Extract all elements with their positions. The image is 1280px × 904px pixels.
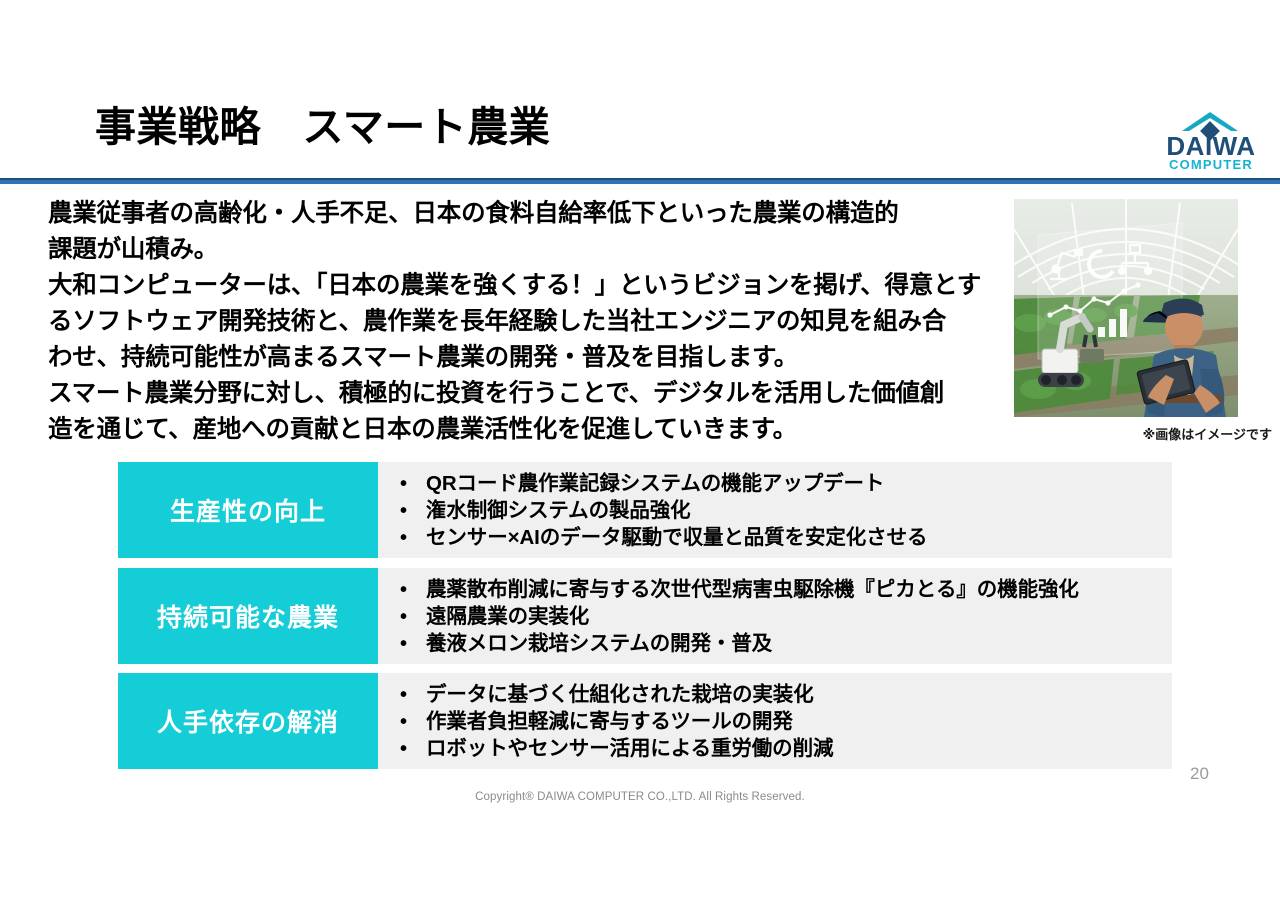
list-item: • センサー×AIのデータ駆動で収量と品質を安定化させる: [400, 524, 1160, 551]
list-item: • 農薬散布削減に寄与する次世代型病害虫駆除機『ピカとる』の機能強化: [400, 576, 1160, 603]
strategy-row-label: 人手依存の解消: [118, 673, 378, 769]
body-paragraph: 農業従事者の高齢化・人手不足、日本の食料自給率低下といった農業の構造的 課題が山…: [48, 196, 1003, 448]
strategy-row-bullets: • 農薬散布削減に寄与する次世代型病害虫駆除機『ピカとる』の機能強化 • 遠隔農…: [400, 576, 1160, 657]
bullet-text: 遠隔農業の実装化: [426, 603, 589, 630]
list-item: • QRコード農作業記録システムの機能アップデート: [400, 470, 1160, 497]
strategy-row: 人手依存の解消 • データに基づく仕組化された栽培の実装化 • 作業者負担軽減に…: [118, 673, 1172, 769]
bullet-marker: •: [400, 577, 426, 604]
list-item: • データに基づく仕組化された栽培の実装化: [400, 681, 1160, 708]
list-item: • 養液メロン栽培システムの開発・普及: [400, 630, 1160, 657]
footer-copyright: Copyright® DAIWA COMPUTER CO.,LTD. All R…: [0, 791, 1280, 803]
bullet-marker: •: [400, 631, 426, 658]
bullet-marker: •: [400, 736, 426, 763]
page-number: 20: [1190, 764, 1250, 784]
bullet-text: 作業者負担軽減に寄与するツールの開発: [426, 708, 793, 735]
bullet-text: 養液メロン栽培システムの開発・普及: [426, 630, 772, 657]
strategy-row-label: 生産性の向上: [118, 462, 378, 558]
bullet-text: センサー×AIのデータ駆動で収量と品質を安定化させる: [426, 524, 927, 551]
daiwa-computer-logo: DAIWA COMPUTER: [1152, 110, 1270, 172]
strategy-row-bullets: • QRコード農作業記録システムの機能アップデート • 潅水制御システムの製品強…: [400, 470, 1160, 551]
strategy-row-bullets: • データに基づく仕組化された栽培の実装化 • 作業者負担軽減に寄与するツールの…: [400, 681, 1160, 762]
list-item: • 遠隔農業の実装化: [400, 603, 1160, 630]
greenhouse-photo: [1014, 199, 1238, 417]
bullet-marker: •: [400, 525, 426, 552]
bullet-text: QRコード農作業記録システムの機能アップデート: [426, 470, 884, 497]
bullet-marker: •: [400, 682, 426, 709]
bullet-marker: •: [400, 604, 426, 631]
bullet-text: 潅水制御システムの製品強化: [426, 497, 691, 524]
list-item: • 潅水制御システムの製品強化: [400, 497, 1160, 524]
strategy-row: 生産性の向上 • QRコード農作業記録システムの機能アップデート • 潅水制御シ…: [118, 462, 1172, 558]
bullet-text: データに基づく仕組化された栽培の実装化: [426, 681, 814, 708]
title-divider: [0, 178, 1280, 184]
strategy-row-label: 持続可能な農業: [118, 568, 378, 664]
logo-svg: DAIWA COMPUTER: [1152, 110, 1270, 172]
logo-subtitle: COMPUTER: [1169, 157, 1253, 172]
photo-caption: ※画像はイメージです: [1010, 424, 1272, 443]
greenhouse-photo-illustration: [1014, 199, 1238, 417]
bullet-text: ロボットやセンサー活用による重労働の削減: [426, 735, 833, 762]
bullet-text: 農薬散布削減に寄与する次世代型病害虫駆除機『ピカとる』の機能強化: [426, 576, 1079, 603]
bullet-marker: •: [400, 471, 426, 498]
page-title: 事業戦略 スマート農業: [95, 104, 550, 151]
list-item: • 作業者負担軽減に寄与するツールの開発: [400, 708, 1160, 735]
bullet-marker: •: [400, 709, 426, 736]
list-item: • ロボットやセンサー活用による重労働の削減: [400, 735, 1160, 762]
strategy-row: 持続可能な農業 • 農薬散布削減に寄与する次世代型病害虫駆除機『ピカとる』の機能…: [118, 568, 1172, 664]
bullet-marker: •: [400, 498, 426, 525]
